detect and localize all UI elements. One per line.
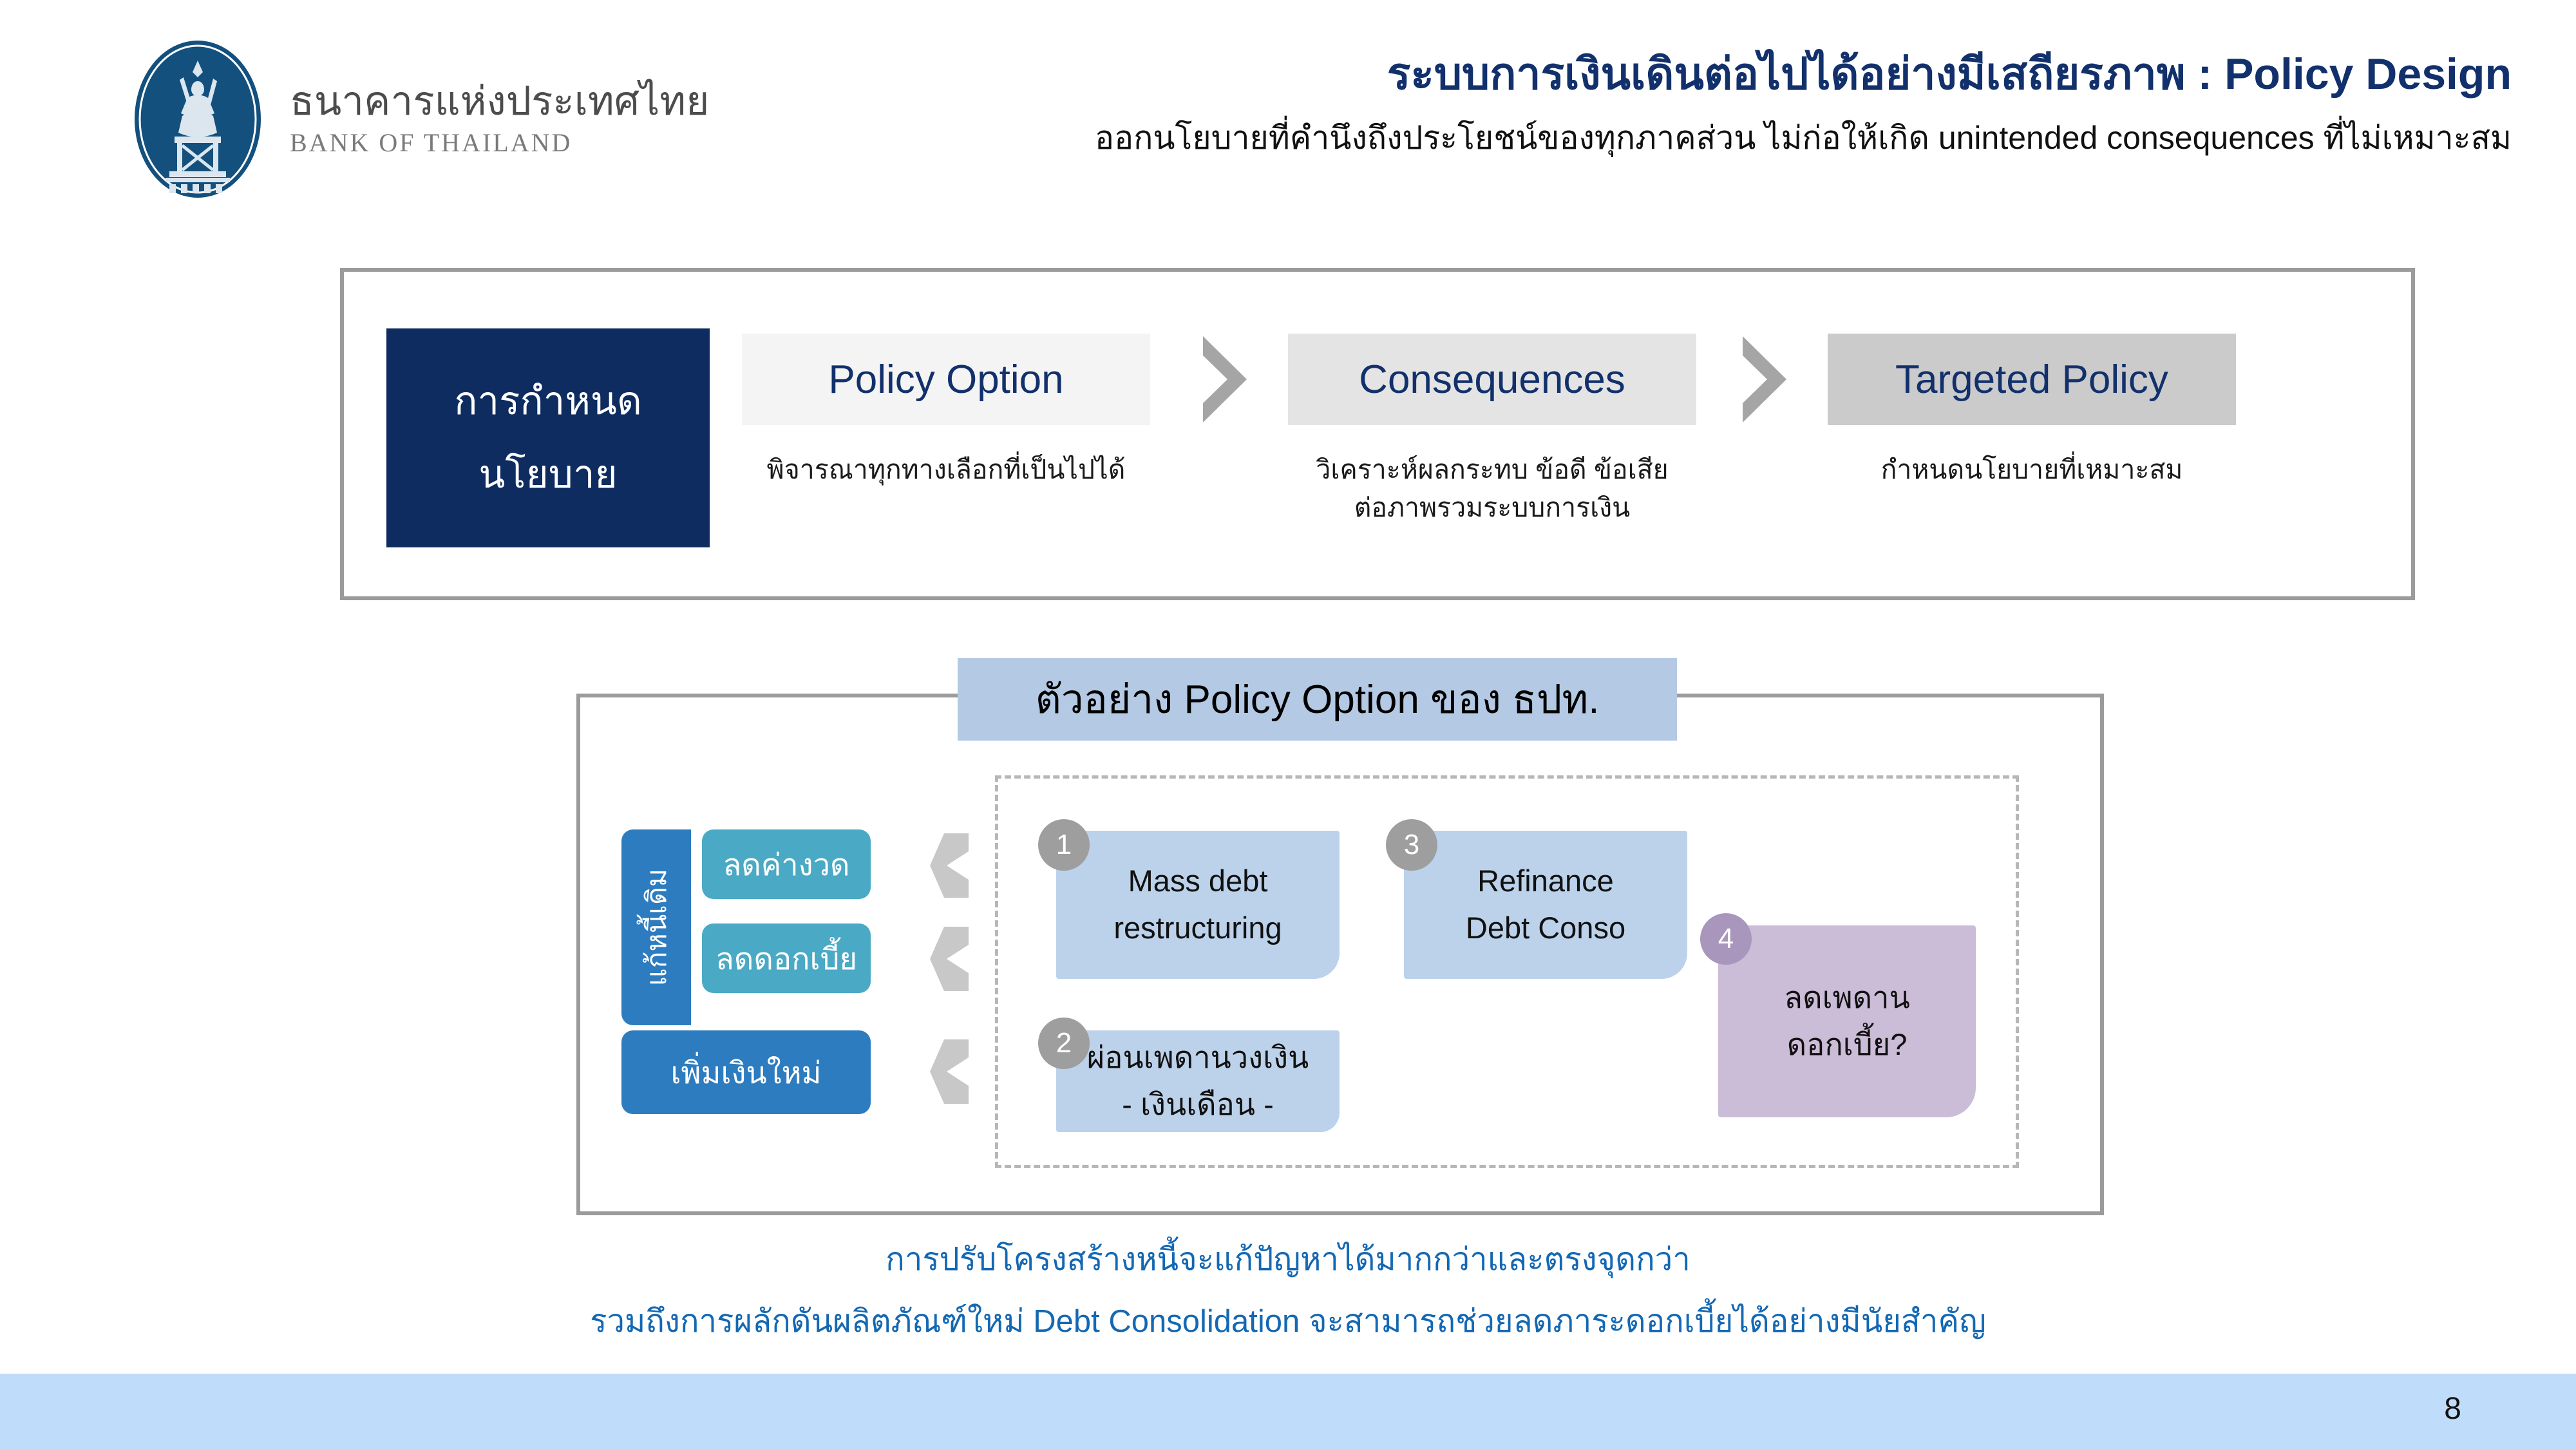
pill-label: ลดดอกเบี้ย xyxy=(715,934,857,983)
bot-logo: ธนาคารแห่งประเทศไทย BANK OF THAILAND xyxy=(132,39,709,200)
footer-bar xyxy=(0,1374,2576,1449)
card-number-badge: 4 xyxy=(1700,913,1752,965)
pill-label: ลดค่างวด xyxy=(723,840,849,889)
card-number-badge: 1 xyxy=(1038,819,1090,871)
option-card-reduce-interest-ceiling: ลดเพดาน ดอกเบี้ย? xyxy=(1718,925,1976,1117)
stage-label: Policy Option xyxy=(742,334,1150,425)
chevron-left-icon xyxy=(929,832,972,899)
chevron-left-icon xyxy=(929,1038,972,1105)
stage-description: วิเคราะห์ผลกระทบ ข้อดี ข้อเสีย ต่อภาพรวม… xyxy=(1316,451,1668,527)
logo-name-en: BANK OF THAILAND xyxy=(290,128,709,158)
vertical-tab-existing-debt: แก้หนี้เดิม xyxy=(621,829,691,1025)
logo-name-th: ธนาคารแห่งประเทศไทย xyxy=(290,80,709,122)
header-title-block: ระบบการเงินเดินต่อไปได้อย่างมีเสถียรภาพ … xyxy=(1095,50,2512,156)
card-number-badge: 2 xyxy=(1038,1018,1090,1069)
logo-wordmark: ธนาคารแห่งประเทศไทย BANK OF THAILAND xyxy=(290,80,709,158)
conclusion-line-1: การปรับโครงสร้างหนี้จะแก้ปัญหาได้มากกว่า… xyxy=(0,1234,2576,1284)
policy-anchor-line1: การกำหนด xyxy=(454,382,642,421)
stage-description: พิจารณาทุกทางเลือกที่เป็นไปได้ xyxy=(767,451,1126,489)
stage-policy-option: Policy Option พิจารณาทุกทางเลือกที่เป็นไ… xyxy=(742,334,1150,489)
option-pill-reduce-installment: ลดค่างวด xyxy=(702,829,871,899)
stage-targeted-policy: Targeted Policy กำหนดนโยบายที่เหมาะสม xyxy=(1828,334,2236,489)
chevron-left-icon xyxy=(929,925,972,992)
stage-description: กำหนดนโยบายที่เหมาะสม xyxy=(1881,451,2183,489)
page-number: 8 xyxy=(2444,1391,2461,1426)
stage-consequences: Consequences วิเคราะห์ผลกระทบ ข้อดี ข้อเ… xyxy=(1288,334,1696,527)
example-banner: ตัวอย่าง Policy Option ของ ธปท. xyxy=(958,658,1677,741)
conclusion-line-2: รวมถึงการผลักดันผลิตภัณฑ์ใหม่ Debt Conso… xyxy=(0,1296,2576,1346)
pill-label: เพิ่มเงินใหม่ xyxy=(670,1048,821,1097)
chevron-right-icon xyxy=(1739,334,1790,425)
card-number-badge: 3 xyxy=(1386,819,1437,871)
option-pill-new-money: เพิ่มเงินใหม่ xyxy=(621,1030,871,1114)
slide-canvas: ธนาคารแห่งประเทศไทย BANK OF THAILAND ระบ… xyxy=(0,0,2576,1449)
stage-label: Targeted Policy xyxy=(1828,334,2236,425)
vertical-tab-label: แก้หนี้เดิม xyxy=(634,869,678,986)
option-card-mass-debt-restructuring: Mass debt restructuring xyxy=(1056,831,1340,979)
option-card-relax-credit-limit: ผ่อนเพดานวงเงิน - เงินเดือน - xyxy=(1056,1030,1340,1132)
page-subtitle: ออกนโยบายที่คำนึงถึงประโยชน์ของทุกภาคส่ว… xyxy=(1095,120,2512,156)
chevron-right-icon xyxy=(1199,334,1251,425)
option-pill-reduce-interest: ลดดอกเบี้ย xyxy=(702,923,871,993)
option-card-refinance-debt-conso: Refinance Debt Conso xyxy=(1404,831,1687,979)
stage-label: Consequences xyxy=(1288,334,1696,425)
policy-anchor-box: การกำหนด นโยบาย xyxy=(386,328,710,547)
page-title: ระบบการเงินเดินต่อไปได้อย่างมีเสถียรภาพ … xyxy=(1095,50,2512,99)
policy-anchor-line2: นโยบาย xyxy=(478,455,617,494)
bot-seal-icon xyxy=(132,39,264,200)
